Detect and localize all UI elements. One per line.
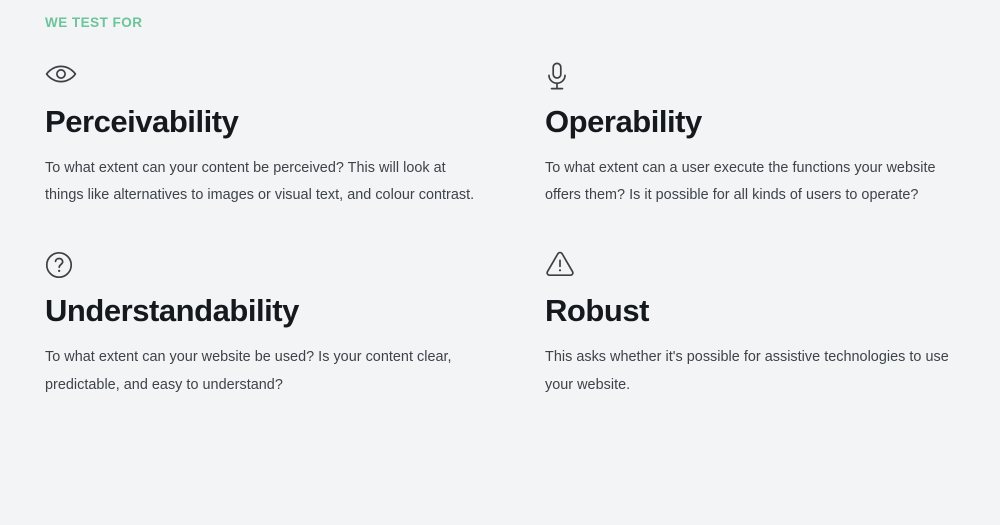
criteria-card-title: Operability — [545, 104, 978, 141]
we-test-for-section: WE TEST FOR Perceivability To what exten… — [0, 0, 1000, 525]
criteria-card-body: This asks whether it's possible for assi… — [545, 344, 973, 400]
criteria-grid: Perceivability To what extent can your c… — [0, 62, 1000, 399]
criteria-card-title: Robust — [545, 293, 978, 330]
criteria-card-operability: Operability To what extent can a user ex… — [500, 62, 1000, 210]
eye-icon — [45, 62, 478, 98]
warning-triangle-icon — [545, 251, 978, 287]
criteria-card-body: To what extent can a user execute the fu… — [545, 155, 973, 211]
criteria-card-perceivability: Perceivability To what extent can your c… — [0, 62, 500, 210]
criteria-card-title: Understandability — [45, 293, 478, 330]
criteria-card-title: Perceivability — [45, 104, 478, 141]
criteria-card-robust: Robust This asks whether it's possible f… — [500, 251, 1000, 399]
microphone-icon — [545, 62, 978, 98]
criteria-card-understandability: Understandability To what extent can you… — [0, 251, 500, 399]
section-eyebrow: WE TEST FOR — [45, 15, 142, 31]
question-mark-circle-icon — [45, 251, 478, 287]
criteria-card-body: To what extent can your content be perce… — [45, 155, 477, 211]
criteria-card-body: To what extent can your website be used?… — [45, 344, 477, 400]
